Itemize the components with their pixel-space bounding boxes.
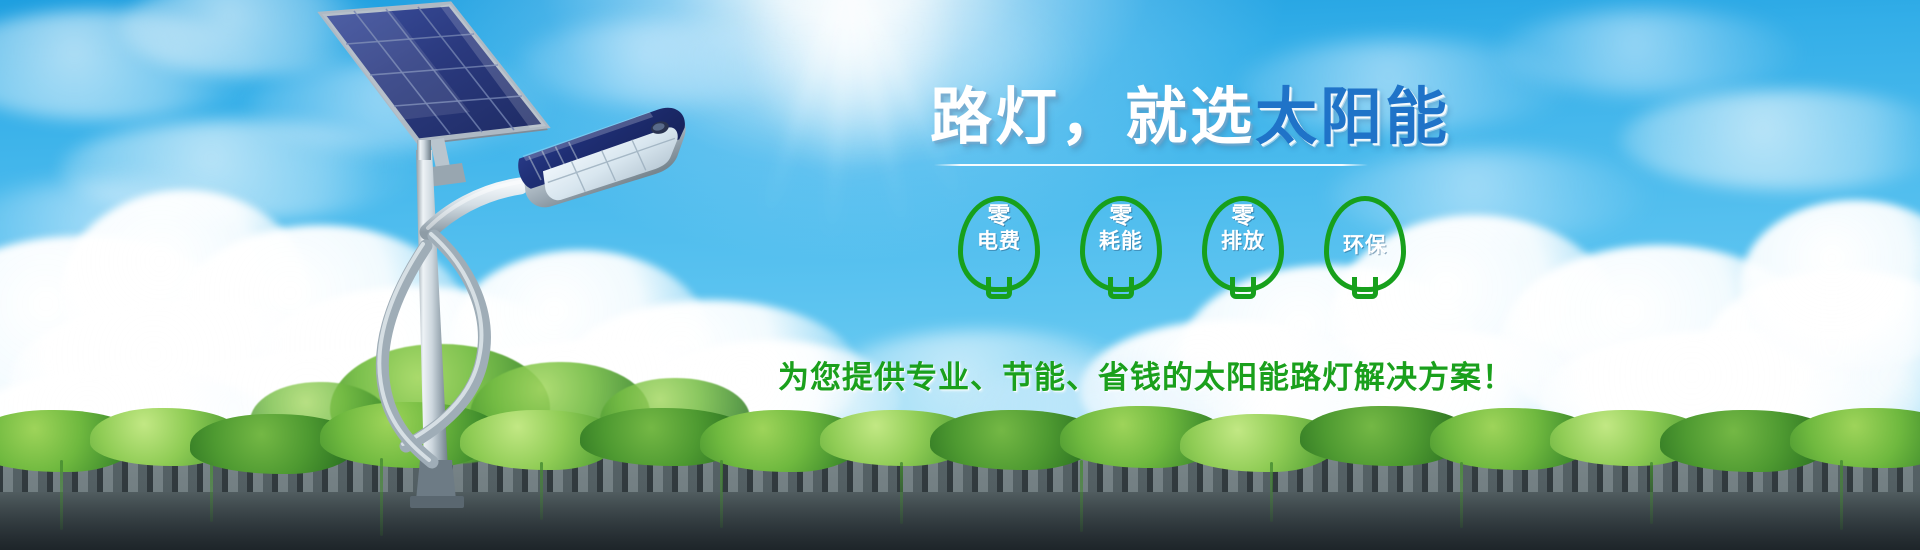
badge-zero-label: 零 [1232,205,1255,228]
vine [1650,462,1653,524]
vine [380,458,383,536]
badge-word-label: 电费 [977,230,1021,252]
badge-eco-friendly[interactable]: 环保 [1324,196,1406,292]
vine [210,462,213,522]
feature-badge-row: 零 电费 零 耗能 零 排放 环保 [958,196,1406,292]
vine [720,460,723,528]
badge-word-label: 排放 [1221,230,1265,252]
badge-zero-electricity-cost[interactable]: 零 电费 [958,196,1040,292]
badge-word-label: 耗能 [1099,230,1143,252]
badge-word-label: 环保 [1343,234,1387,256]
badge-zero-label: 零 [1110,205,1133,228]
headline-part-plain: 路灯，就选 [930,80,1255,153]
vine [900,462,903,524]
vine [1460,462,1463,528]
solar-street-light-banner: 路灯，就选太阳能 零 电费 零 耗能 零 排放 [0,0,1920,550]
ivy-clump [1790,408,1920,468]
badge-zero-energy-use[interactable]: 零 耗能 [1080,196,1162,292]
vine [1840,460,1843,530]
copy-block: 路灯，就选太阳能 [930,86,1550,166]
cloud [520,20,800,106]
cloud [1620,90,1920,190]
vine [1080,460,1083,532]
vine [1270,462,1273,522]
vine [540,462,543,520]
tagline: 为您提供专业、节能、省钱的太阳能路灯解决方案！ [778,352,1514,397]
page-title: 路灯，就选太阳能 [930,86,1550,148]
badge-zero-emissions[interactable]: 零 排放 [1202,196,1284,292]
headline-divider [934,164,1368,166]
headline-part-accent: 太阳能 [1255,80,1450,153]
vine [60,460,63,530]
badge-zero-label: 零 [988,205,1011,228]
cloud [1500,10,1800,94]
